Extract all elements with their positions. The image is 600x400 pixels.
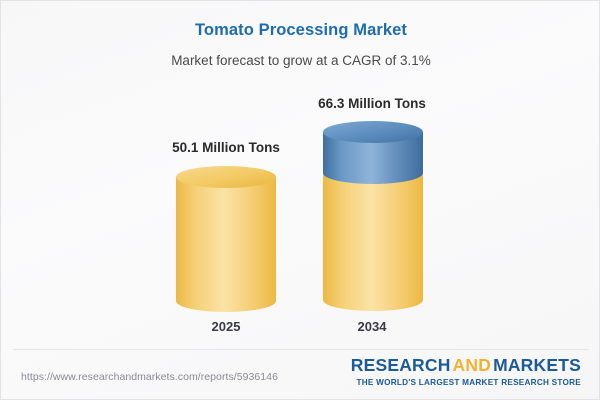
cylinder-bar-2034: [322, 121, 424, 311]
cylinder-bar-2025: [175, 166, 277, 312]
logo-tagline: THE WORLD'S LARGEST MARKET RESEARCH STOR…: [351, 379, 581, 387]
bar-value-label-2025: 50.1 Million Tons: [116, 140, 336, 155]
category-label-2034: 2034: [262, 319, 482, 334]
footer-divider: [13, 349, 589, 350]
source-url[interactable]: https://www.researchandmarkets.com/repor…: [21, 371, 278, 383]
bar-chart: 50.1 Million Tons 2025: [1, 1, 600, 349]
logo-word-research: RESEARCH: [351, 355, 451, 375]
logo-word-and: AND: [453, 355, 492, 375]
infographic-card: Tomato Processing Market Market forecast…: [0, 0, 600, 400]
logo-word-markets: MARKETS: [493, 355, 581, 375]
logo-wordmark: RESEARCHANDMARKETS: [351, 357, 581, 375]
bar-value-label-2034: 66.3 Million Tons: [262, 96, 482, 111]
research-and-markets-logo[interactable]: RESEARCHANDMARKETS THE WORLD'S LARGEST M…: [351, 357, 581, 387]
